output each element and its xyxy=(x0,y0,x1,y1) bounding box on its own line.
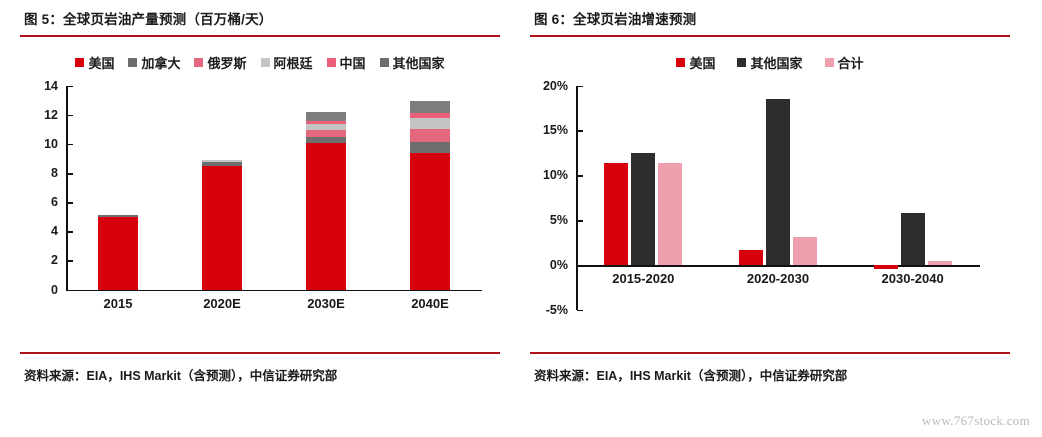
legend-swatch-icon xyxy=(825,58,834,67)
bar-segment xyxy=(410,118,450,129)
x-tick-label: 2015 xyxy=(66,296,170,311)
y-tick-label: 2 xyxy=(51,253,58,267)
figure-6-footer: 资料来源：EIA，IHS Markit（含预测），中信证券研究部 xyxy=(530,352,1010,384)
bar xyxy=(739,250,763,265)
y-axis-tick xyxy=(67,86,73,88)
figure-5-bars xyxy=(66,86,482,290)
y-axis-tick xyxy=(577,310,583,312)
legend-swatch-icon xyxy=(737,58,746,67)
bar-segment xyxy=(410,129,450,143)
stacked-bar xyxy=(202,86,242,290)
legend-item: 俄罗斯 xyxy=(194,53,246,72)
figure-5-title: 图 5：全球页岩油产量预测（百万桶/天） xyxy=(20,0,500,35)
bar-segment xyxy=(98,217,138,289)
figure-5-y-axis-labels: 02468101214 xyxy=(20,82,62,317)
y-tick-label: -5% xyxy=(546,303,568,317)
x-tick-label: 2020-2030 xyxy=(711,271,846,286)
legend-label: 阿根廷 xyxy=(274,53,313,72)
y-tick-label: 0 xyxy=(51,283,58,297)
bar-group xyxy=(66,86,170,290)
bar-segment xyxy=(202,166,242,290)
legend-swatch-icon xyxy=(261,58,270,67)
figure-5-footer: 资料来源：EIA，IHS Markit（含预测），中信证券研究部 xyxy=(20,352,500,384)
figure-5-x-axis-line xyxy=(66,290,482,292)
legend-label: 合计 xyxy=(838,53,864,72)
title-divider-right xyxy=(530,35,1010,37)
legend-item: 其他国家 xyxy=(380,53,445,72)
figure-6-title: 图 6：全球页岩油增速预测 xyxy=(530,0,1010,35)
stacked-bar xyxy=(410,86,450,290)
bar xyxy=(631,153,655,265)
legend-label: 其他国家 xyxy=(750,53,802,72)
y-tick-label: 8 xyxy=(51,166,58,180)
bar xyxy=(928,261,952,265)
y-axis-tick xyxy=(67,231,73,233)
figure-page: 图 5：全球页岩油产量预测（百万桶/天） 美国加拿大俄罗斯阿根廷中国其他国家 0… xyxy=(0,0,1042,437)
legend-label: 加拿大 xyxy=(141,53,180,72)
x-tick-label: 2030-2040 xyxy=(845,271,980,286)
y-tick-label: 6 xyxy=(51,195,58,209)
y-tick-label: 0% xyxy=(550,258,568,272)
bar xyxy=(793,237,817,265)
y-axis-tick xyxy=(67,115,73,117)
bar xyxy=(874,265,898,269)
figure-6-legend: 美国其他国家合计 xyxy=(530,54,1010,72)
y-tick-label: 10 xyxy=(44,137,58,151)
x-tick-label: 2020E xyxy=(170,296,274,311)
bar-segment xyxy=(410,153,450,290)
bar xyxy=(901,213,925,265)
y-axis-tick xyxy=(577,265,583,267)
legend-item: 美国 xyxy=(75,53,114,72)
legend-swatch-icon xyxy=(194,58,203,67)
legend-item: 美国 xyxy=(676,53,715,72)
legend-item: 阿根廷 xyxy=(261,53,313,72)
y-axis-tick xyxy=(67,173,73,175)
y-axis-tick xyxy=(67,260,73,262)
y-tick-label: 14 xyxy=(44,79,58,93)
figure-6-source: 资料来源：EIA，IHS Markit（含预测），中信证券研究部 xyxy=(530,354,1010,384)
bar-segment xyxy=(410,101,450,113)
legend-item: 其他国家 xyxy=(737,53,802,72)
y-axis-tick xyxy=(577,86,583,88)
y-tick-label: 5% xyxy=(550,213,568,227)
legend-swatch-icon xyxy=(676,58,685,67)
legend-swatch-icon xyxy=(380,58,389,67)
figure-5-plot: 02468101214 20152020E2030E2040E xyxy=(20,82,500,317)
stacked-bar xyxy=(98,86,138,290)
legend-item: 加拿大 xyxy=(128,53,180,72)
legend-label: 美国 xyxy=(88,53,114,72)
y-tick-label: 12 xyxy=(44,108,58,122)
figure-6-panel: 图 6：全球页岩油增速预测 美国其他国家合计 20%15%10%5%0%-5% … xyxy=(530,0,1010,400)
figure-6-y-axis-labels: 20%15%10%5%0%-5% xyxy=(530,82,572,317)
x-tick-label: 2040E xyxy=(378,296,482,311)
figure-5-source: 资料来源：EIA，IHS Markit（含预测），中信证券研究部 xyxy=(20,354,500,384)
bar xyxy=(604,163,628,265)
y-tick-label: 4 xyxy=(51,224,58,238)
legend-label: 俄罗斯 xyxy=(207,53,246,72)
y-axis-tick xyxy=(577,220,583,222)
legend-label: 中国 xyxy=(340,53,366,72)
site-watermark: www.767stock.com xyxy=(922,413,1030,429)
y-axis-tick xyxy=(67,144,73,146)
figure-5-panel: 图 5：全球页岩油产量预测（百万桶/天） 美国加拿大俄罗斯阿根廷中国其他国家 0… xyxy=(20,0,500,400)
y-tick-label: 20% xyxy=(543,79,568,93)
legend-item: 中国 xyxy=(327,53,366,72)
bar-segment xyxy=(306,143,346,289)
bar-segment xyxy=(410,142,450,152)
x-tick-label: 2015-2020 xyxy=(576,271,711,286)
y-tick-label: 10% xyxy=(543,168,568,182)
y-axis-tick xyxy=(67,202,73,204)
bar-group xyxy=(378,86,482,290)
title-divider-left xyxy=(20,35,500,37)
stacked-bar xyxy=(306,86,346,290)
y-tick-label: 15% xyxy=(543,123,568,137)
bar-group xyxy=(170,86,274,290)
legend-swatch-icon xyxy=(327,58,336,67)
bar xyxy=(658,163,682,265)
x-tick-label: 2030E xyxy=(274,296,378,311)
legend-swatch-icon xyxy=(75,58,84,67)
figure-6-plot: 20%15%10%5%0%-5% 2015-20202020-20302030-… xyxy=(530,82,1010,317)
y-axis-tick xyxy=(577,175,583,177)
bar xyxy=(766,99,790,265)
legend-item: 合计 xyxy=(825,53,864,72)
figure-5-x-axis-labels: 20152020E2030E2040E xyxy=(66,296,482,311)
bar-group xyxy=(274,86,378,290)
legend-swatch-icon xyxy=(128,58,137,67)
figure-6-x-axis-labels: 2015-20202020-20302030-2040 xyxy=(576,271,980,286)
figure-5-legend: 美国加拿大俄罗斯阿根廷中国其他国家 xyxy=(20,54,500,72)
legend-label: 美国 xyxy=(689,53,715,72)
legend-label: 其他国家 xyxy=(393,53,445,72)
bar-segment xyxy=(306,112,346,121)
y-axis-tick xyxy=(577,130,583,132)
